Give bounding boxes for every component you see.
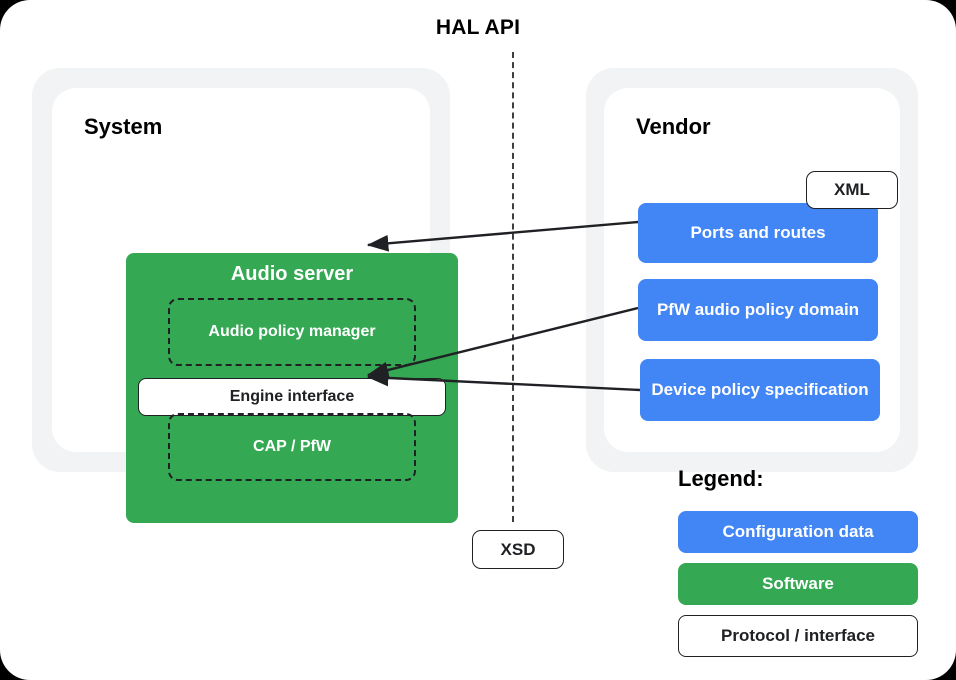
diagram-canvas: HAL API Audio server Audio policy manage… <box>0 0 956 680</box>
xsd-badge[interactable]: XSD <box>472 530 564 569</box>
legend-item-protocol-interface: Protocol / interface <box>678 615 918 657</box>
pfw-audio-policy-domain-box[interactable]: PfW audio policy domain <box>638 279 878 341</box>
hal-api-divider-line <box>512 52 514 522</box>
vendor-heading: Vendor <box>636 114 711 140</box>
legend-item-software: Software <box>678 563 918 605</box>
audio-policy-manager-block[interactable]: Audio policy manager <box>168 298 416 366</box>
ports-and-routes-box[interactable]: Ports and routes <box>638 203 878 263</box>
device-policy-specification-box[interactable]: Device policy specification <box>640 359 880 421</box>
cap-pfw-block[interactable]: CAP / PfW <box>168 413 416 481</box>
audio-server-title: Audio server <box>126 263 458 286</box>
system-inner-panel: Audio server Audio policy manager Engine… <box>52 88 430 452</box>
legend-heading: Legend: <box>678 466 764 492</box>
hal-api-title: HAL API <box>0 16 956 40</box>
legend-item-configuration-data: Configuration data <box>678 511 918 553</box>
engine-interface-block[interactable]: Engine interface <box>138 378 446 416</box>
system-heading: System <box>84 114 162 140</box>
xml-badge[interactable]: XML <box>806 171 898 209</box>
audio-server-block: Audio server Audio policy manager Engine… <box>126 253 458 523</box>
